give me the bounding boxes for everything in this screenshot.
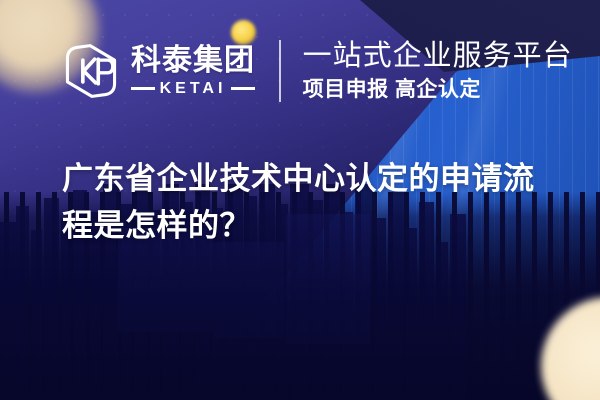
- brand-name-en-row: KETAI: [131, 80, 255, 98]
- banner-header: 科泰集团 KETAI 一站式企业服务平台 项目申报 高企认定: [62, 40, 573, 103]
- vertical-divider: [279, 40, 281, 102]
- tagline-block: 一站式企业服务平台 项目申报 高企认定: [303, 40, 573, 103]
- logo-wordmark: 科泰集团 KETAI: [131, 45, 255, 98]
- brand-name-en: KETAI: [155, 80, 232, 98]
- dash-right-icon: [231, 87, 255, 90]
- ketai-diamond-monogram-icon: [62, 42, 120, 100]
- tagline-main: 一站式企业服务平台: [303, 40, 573, 72]
- page-title: 广东省企业技术中心认定的申请流程是怎样的？: [62, 155, 542, 249]
- dash-left-icon: [131, 87, 155, 90]
- promo-banner: 科泰集团 KETAI 一站式企业服务平台 项目申报 高企认定 广东省企业技术中心…: [0, 0, 600, 400]
- tagline-sub: 项目申报 高企认定: [303, 77, 573, 102]
- brand-name-cn: 科泰集团: [131, 45, 255, 77]
